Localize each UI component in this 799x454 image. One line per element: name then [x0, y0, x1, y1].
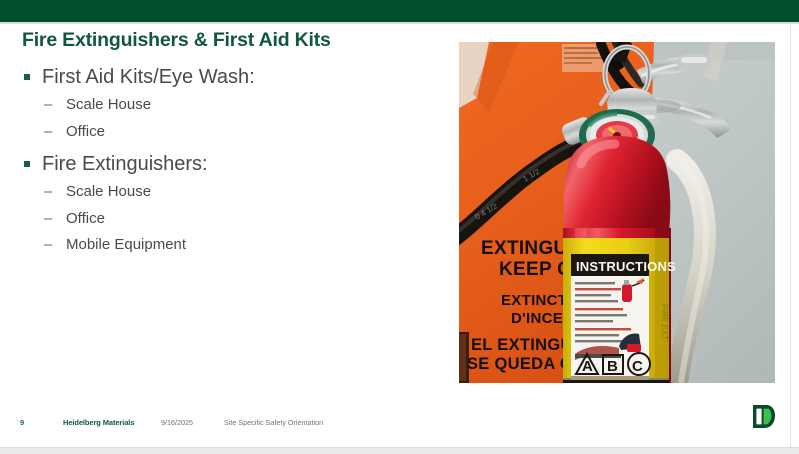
bullet-label: First Aid Kits/Eye Wash: — [42, 66, 255, 88]
svg-text:INSTRUCTIONS: INSTRUCTIONS — [576, 259, 676, 274]
heidelberg-materials-logo-icon — [753, 405, 775, 428]
sub-bullet-item: – Scale House — [22, 92, 432, 119]
slide-top-accent-band — [0, 0, 799, 22]
viewport-bottom-strip — [0, 448, 799, 454]
slide-right-edge — [790, 24, 791, 448]
slide-footer: 9 Heidelberg Materials 9/16/2025 Site Sp… — [0, 417, 799, 433]
sub-bullet-label: Office — [66, 123, 105, 140]
sub-bullet-item: – Office — [22, 119, 432, 146]
square-bullet-icon — [24, 161, 30, 167]
page-title: Fire Extinguishers & First Aid Kits — [22, 29, 331, 52]
bullet-section-heading: First Aid Kits/Eye Wash: — [22, 62, 432, 92]
footer-brand-name: Heidelberg Materials — [63, 418, 134, 427]
dash-bullet-icon: – — [44, 92, 52, 119]
svg-text:EXTINCTI: EXTINCTI — [501, 292, 572, 309]
footer-subject: Site Specific Safety Orientation — [224, 418, 323, 427]
dash-bullet-icon: – — [44, 232, 52, 259]
svg-text:A: A — [582, 358, 593, 375]
dash-bullet-icon: – — [44, 179, 52, 206]
dash-bullet-icon: – — [44, 206, 52, 233]
bullet-label: Fire Extinguishers: — [42, 153, 208, 175]
slide-top-divider — [0, 22, 799, 24]
svg-text:FIRE EXT: FIRE EXT — [660, 304, 669, 340]
svg-text:D'INCE: D'INCE — [511, 310, 563, 327]
svg-text:B: B — [607, 358, 618, 375]
slide-body-content: First Aid Kits/Eye Wash: – Scale House –… — [22, 62, 432, 259]
square-bullet-icon — [24, 74, 30, 80]
dash-bullet-icon: – — [44, 119, 52, 146]
page-number: 9 — [20, 418, 24, 427]
presentation-slide: Fire Extinguishers & First Aid Kits Firs… — [0, 0, 799, 448]
sub-bullet-label: Mobile Equipment — [66, 236, 186, 253]
svg-text:C: C — [632, 358, 643, 375]
sub-bullet-item: – Office — [22, 206, 432, 233]
sub-bullet-item: – Mobile Equipment — [22, 232, 432, 259]
sub-bullet-label: Scale House — [66, 183, 151, 200]
fire-extinguisher-photo: EXTINGUIS KEEP CL EXTINCTI D'INCE EL EXT… — [459, 42, 775, 383]
sub-bullet-label: Office — [66, 210, 105, 227]
sub-bullet-item: – Scale House — [22, 179, 432, 206]
bullet-section-heading: Fire Extinguishers: — [22, 149, 432, 179]
footer-date: 9/16/2025 — [161, 418, 193, 427]
sub-bullet-label: Scale House — [66, 96, 151, 113]
